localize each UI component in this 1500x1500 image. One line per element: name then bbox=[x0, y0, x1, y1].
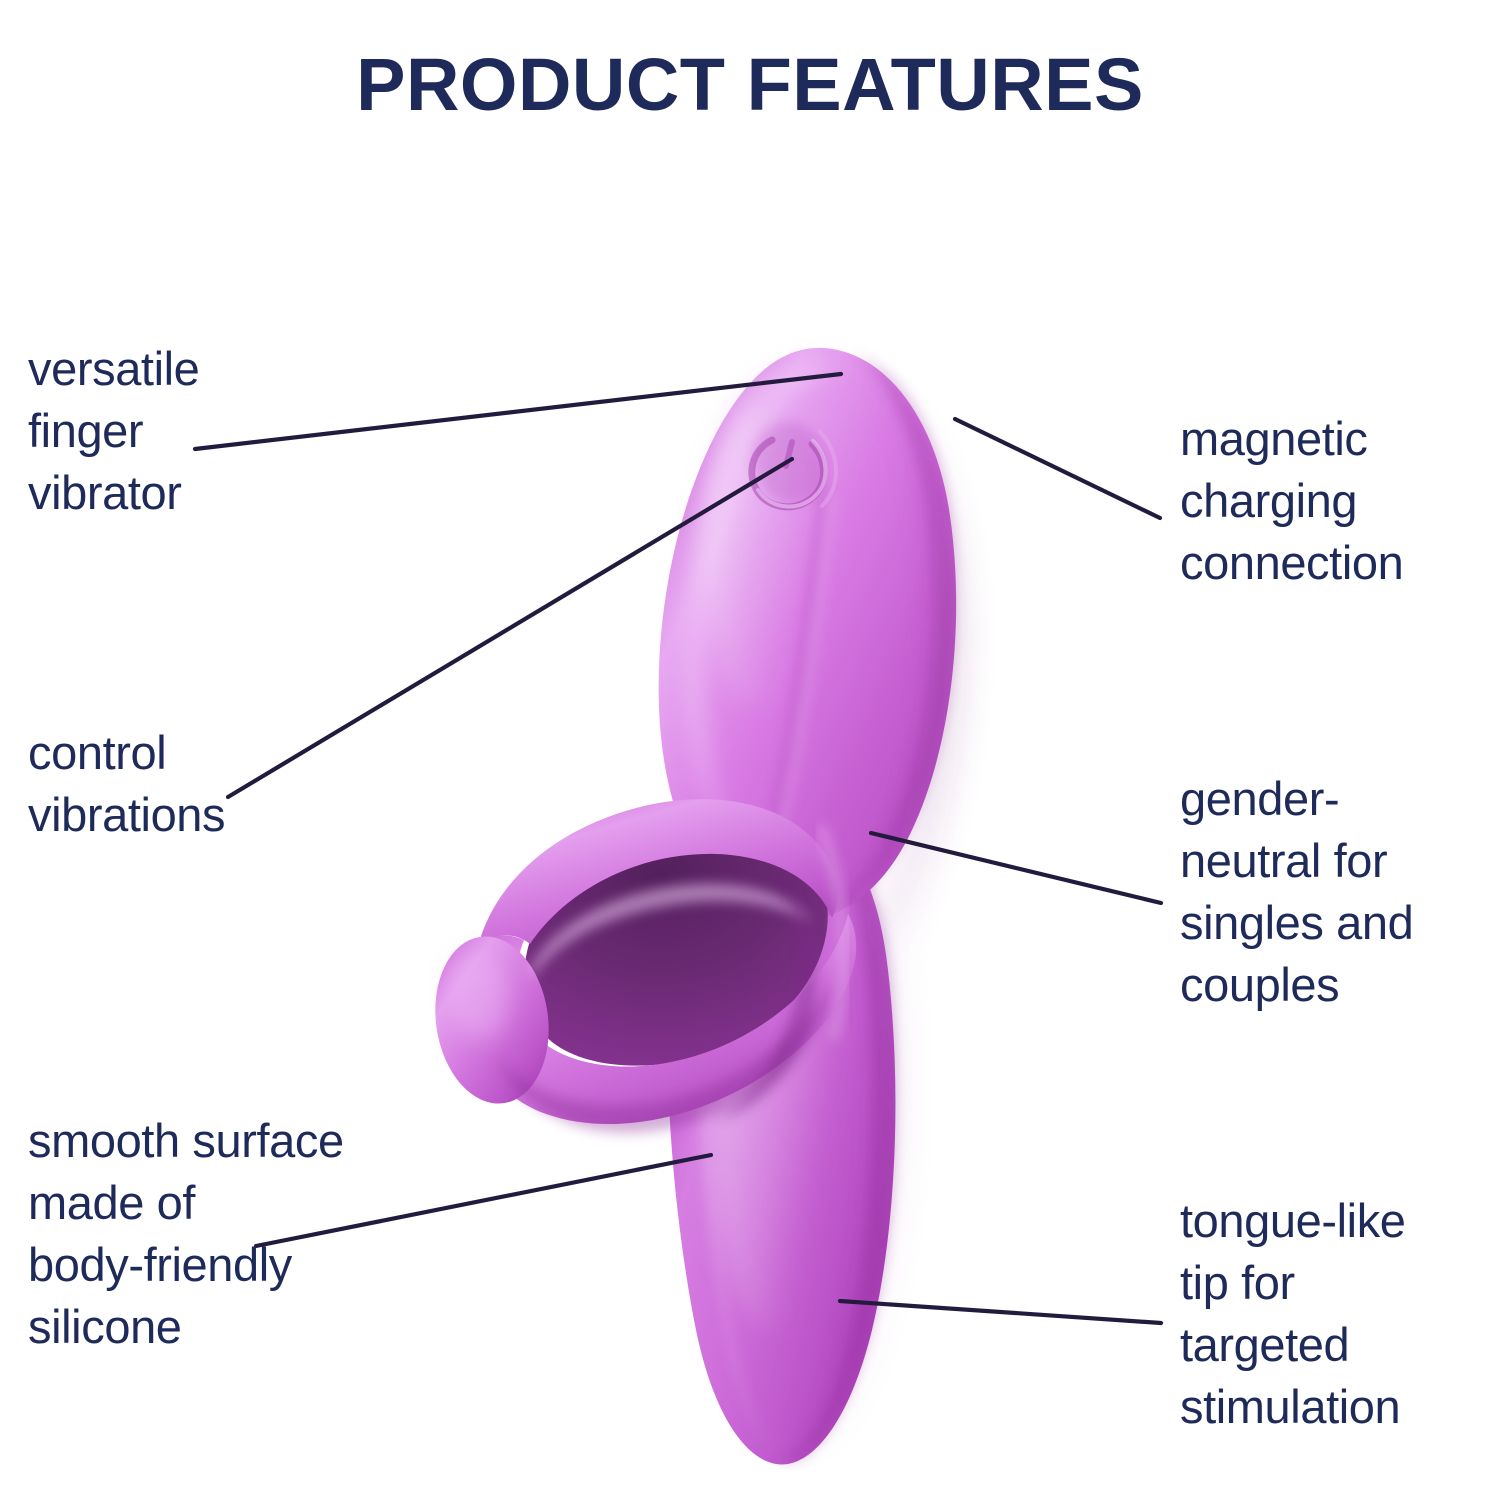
product-features-infographic: PRODUCT FEATURES bbox=[0, 0, 1500, 1500]
callout-line: tongue-like bbox=[1180, 1190, 1406, 1252]
page-title: PRODUCT FEATURES bbox=[0, 48, 1500, 122]
callout-line: neutral for bbox=[1180, 830, 1413, 892]
callout-versatile-finger-vibrator: versatile finger vibrator bbox=[28, 338, 199, 524]
callout-line: control bbox=[28, 722, 225, 784]
callout-magnetic-charging-connection: magnetic charging connection bbox=[1180, 408, 1403, 594]
callout-line: singles and bbox=[1180, 892, 1413, 954]
callout-line: smooth surface bbox=[28, 1110, 344, 1172]
callout-line: tip for bbox=[1180, 1252, 1406, 1314]
callout-line: couples bbox=[1180, 954, 1413, 1016]
callout-line: targeted bbox=[1180, 1314, 1406, 1376]
product-illustration bbox=[420, 330, 1000, 1470]
callout-line: silicone bbox=[28, 1296, 344, 1358]
callout-line: vibrator bbox=[28, 462, 199, 524]
callout-smooth-surface-silicone: smooth surface made of body-friendly sil… bbox=[28, 1110, 344, 1358]
callout-line: charging bbox=[1180, 470, 1403, 532]
callout-line: made of bbox=[28, 1172, 344, 1234]
callout-tongue-like-tip: tongue-like tip for targeted stimulation bbox=[1180, 1190, 1406, 1438]
callout-line: finger bbox=[28, 400, 199, 462]
product-vector bbox=[420, 330, 1000, 1470]
callout-line: body-friendly bbox=[28, 1234, 344, 1296]
callout-line: connection bbox=[1180, 532, 1403, 594]
callout-control-vibrations: control vibrations bbox=[28, 722, 225, 846]
callout-line: vibrations bbox=[28, 784, 225, 846]
callout-gender-neutral: gender- neutral for singles and couples bbox=[1180, 768, 1413, 1016]
callout-line: stimulation bbox=[1180, 1376, 1406, 1438]
callout-line: versatile bbox=[28, 338, 199, 400]
callout-line: gender- bbox=[1180, 768, 1413, 830]
callout-line: magnetic bbox=[1180, 408, 1403, 470]
